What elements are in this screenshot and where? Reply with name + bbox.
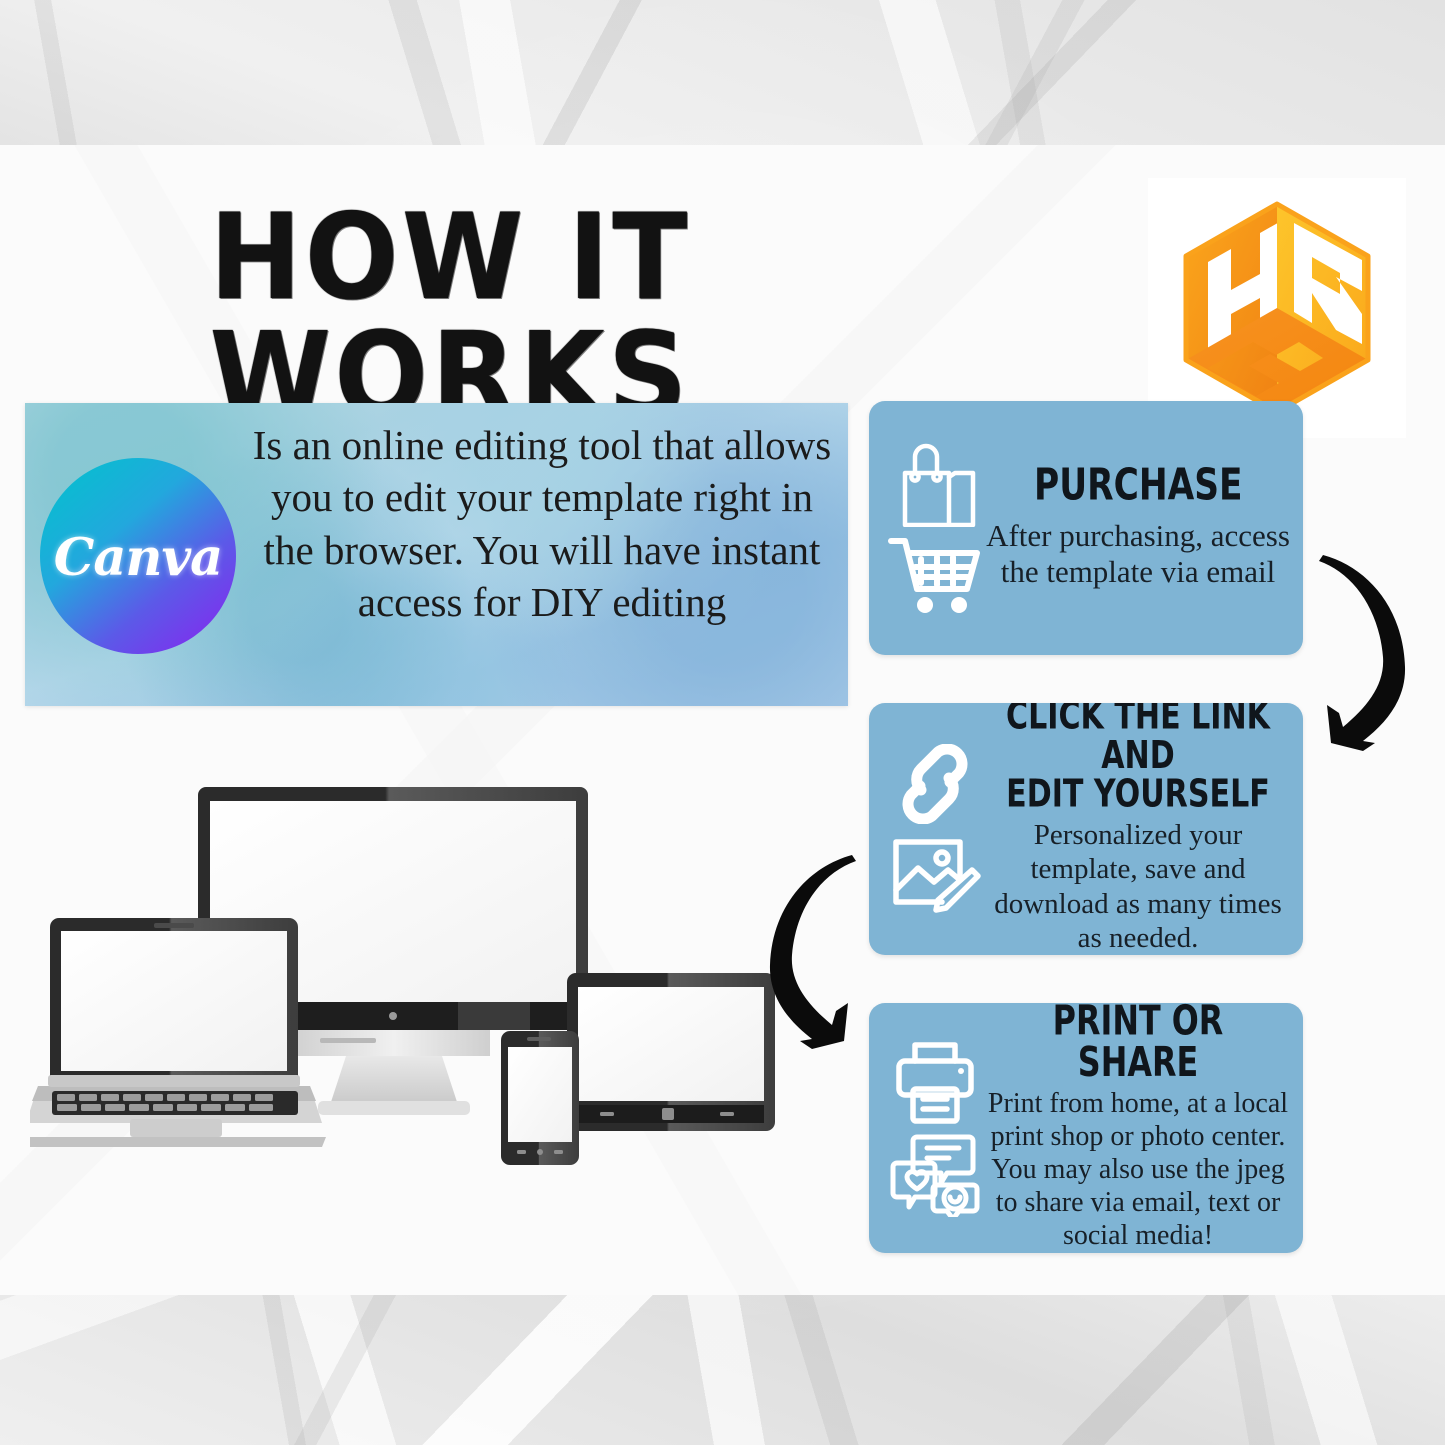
edit-icons xyxy=(883,703,987,955)
hrg-logo xyxy=(1148,178,1406,438)
shopping-bag-icon xyxy=(889,441,981,527)
social-chat-bubbles-icon xyxy=(887,1131,983,1217)
shopping-cart-icon xyxy=(887,533,983,615)
purchase-body: PURCHASE After purchasing, access the te… xyxy=(979,401,1297,655)
page-title: HOW IT WORKS xyxy=(0,197,927,434)
arrow-purchase-to-edit xyxy=(1305,545,1425,760)
print-body: PRINT OR SHARE Print from home, at a loc… xyxy=(979,1003,1297,1253)
smartphone xyxy=(501,1031,579,1165)
edit-description: Personalized your template, save and dow… xyxy=(983,818,1293,955)
laptop xyxy=(30,918,326,1147)
purchase-description: After purchasing, access the template vi… xyxy=(983,518,1293,591)
devices-illustration xyxy=(30,775,775,1165)
canva-banner: Canva Is an online editing tool that all… xyxy=(25,403,848,706)
print-title: PRINT OR SHARE xyxy=(1005,1003,1272,1083)
tablet xyxy=(567,973,775,1131)
hrg-cube-icon xyxy=(1148,178,1406,438)
canva-description: Is an online editing tool that allows yo… xyxy=(247,419,837,629)
edit-title: CLICK THE LINK AND EDIT YOURSELF xyxy=(1005,703,1272,815)
print-description: Print from home, at a local print shop o… xyxy=(983,1087,1293,1252)
step-card-edit[interactable]: CLICK THE LINK AND EDIT YOURSELF Persona… xyxy=(869,703,1303,955)
image-edit-icon xyxy=(886,830,984,914)
step-card-purchase[interactable]: PURCHASE After purchasing, access the te… xyxy=(869,401,1303,655)
canva-logo: Canva xyxy=(40,458,236,654)
print-icons xyxy=(883,1003,987,1253)
step-card-print[interactable]: PRINT OR SHARE Print from home, at a loc… xyxy=(869,1003,1303,1253)
printer-icon xyxy=(889,1039,981,1125)
purchase-icons xyxy=(883,401,987,655)
purchase-title: PURCHASE xyxy=(1034,463,1243,508)
device-mockups xyxy=(30,775,775,1165)
arrow-edit-to-devices xyxy=(752,845,870,1057)
chain-link-icon xyxy=(887,744,983,824)
canva-wordmark: Canva xyxy=(54,528,222,588)
curved-arrow-down-right-icon xyxy=(752,845,870,1057)
curved-arrow-down-left-icon xyxy=(1305,545,1425,760)
edit-body: CLICK THE LINK AND EDIT YOURSELF Persona… xyxy=(979,703,1297,955)
